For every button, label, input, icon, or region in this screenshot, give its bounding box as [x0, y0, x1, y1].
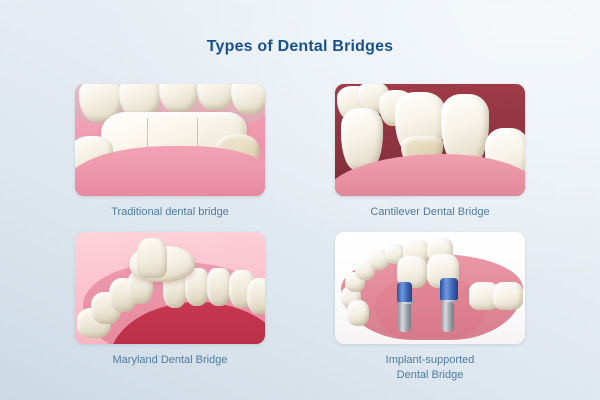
- caption-line-1: Implant-supported: [386, 354, 475, 366]
- maryland-dental-bridge-illustration: [75, 232, 265, 344]
- traditional-dental-bridge-illustration: [75, 84, 265, 196]
- bridge-card-maryland: Maryland Dental Bridge: [60, 232, 280, 368]
- molar-tooth: [231, 84, 265, 114]
- maryland-bridge-artwork: [75, 232, 265, 344]
- cantilever-bridge-artwork: [335, 84, 525, 196]
- implant-post: [398, 302, 411, 332]
- bridge-card-traditional: Traditional dental bridge: [60, 84, 280, 220]
- maryland-pontic-tooth: [137, 238, 167, 278]
- caption-implant-supported: Implant-supported Dental Bridge: [320, 353, 540, 383]
- implant-abutment: [397, 282, 412, 302]
- bridge-card-cantilever: Cantilever Dental Bridge: [320, 84, 540, 220]
- caption-line-1: Traditional dental bridge: [111, 206, 229, 218]
- traditional-bridge-artwork: [75, 84, 265, 196]
- caption-line-1: Maryland Dental Bridge: [113, 354, 228, 366]
- arch-tooth: [207, 268, 231, 306]
- lower-gum-shape: [75, 146, 265, 196]
- arch-tooth: [347, 300, 369, 326]
- caption-maryland: Maryland Dental Bridge: [60, 353, 280, 368]
- cantilever-dental-bridge-illustration: [335, 84, 525, 196]
- bridge-card-implant-supported: Implant-supported Dental Bridge: [320, 232, 540, 383]
- implant-supported-dental-bridge-illustration: [335, 232, 525, 344]
- arch-tooth: [247, 278, 265, 314]
- implant-post: [441, 302, 454, 332]
- page-title: Types of Dental Bridges: [0, 38, 600, 56]
- implant-bridge-artwork: [335, 232, 525, 344]
- caption-traditional: Traditional dental bridge: [60, 205, 280, 220]
- caption-line-1: Cantilever Dental Bridge: [370, 206, 489, 218]
- implant-abutment: [440, 278, 458, 300]
- caption-line-2: Dental Bridge: [320, 368, 540, 383]
- infographic-page: Types of Dental Bridges: [0, 0, 600, 400]
- caption-cantilever: Cantilever Dental Bridge: [320, 205, 540, 220]
- molar-tooth: [493, 282, 523, 310]
